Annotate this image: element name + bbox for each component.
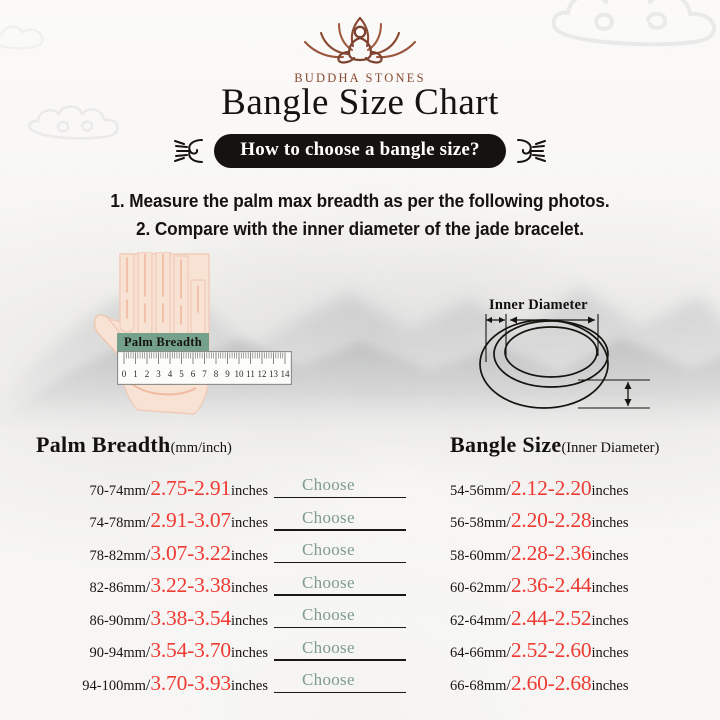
row-measurement: 70-74mm/2.75-2.91inches <box>0 476 270 501</box>
row-measurement: 56-58mm/2.20-2.28inches <box>440 508 629 533</box>
range-inch: 2.12-2.20 <box>511 476 592 500</box>
bangle-size-table: 54-56mm/2.12-2.20inches56-58mm/2.20-2.28… <box>440 472 720 700</box>
table-row: 90-94mm/3.54-3.70inchesChoose <box>0 635 440 668</box>
svg-text:3: 3 <box>156 369 161 379</box>
range-mm: 86-90mm <box>89 613 145 629</box>
svg-text:13: 13 <box>269 369 279 379</box>
range-inch: 3.22-3.38 <box>150 573 231 597</box>
unit-label: inches <box>231 548 268 564</box>
row-measurement: 94-100mm/3.70-3.93inches <box>0 671 270 696</box>
range-mm: 78-82mm <box>89 548 145 564</box>
unit-label: inches <box>591 483 628 499</box>
range-inch: 3.70-3.93 <box>150 671 231 695</box>
how-to-banner: How to choose a bangle size? <box>214 134 505 168</box>
brand-logo: BUDDHA STONES <box>0 8 720 86</box>
range-mm: 60-62mm <box>450 580 506 596</box>
range-mm: 82-86mm <box>89 580 145 596</box>
range-inch: 3.38-3.54 <box>150 606 231 630</box>
unit-label: inches <box>231 515 268 531</box>
svg-text:2: 2 <box>145 369 150 379</box>
flourish-ornament-icon <box>515 134 549 168</box>
row-measurement: 54-56mm/2.12-2.20inches <box>440 476 629 501</box>
size-chart-page: BUDDHA STONES Bangle Size Chart How to c… <box>0 0 720 720</box>
svg-text:8: 8 <box>214 369 219 379</box>
palm-breadth-header-sub: (mm/inch) <box>171 440 232 456</box>
unit-label: inches <box>591 515 628 531</box>
unit-label: inches <box>591 548 628 564</box>
flourish-ornament-icon <box>171 134 205 168</box>
table-row: 86-90mm/3.38-3.54inchesChoose <box>0 602 440 635</box>
range-mm: 70-74mm <box>89 483 145 499</box>
choose-field[interactable]: Choose <box>274 538 406 568</box>
range-inch: 2.91-3.07 <box>150 508 231 532</box>
table-row: 62-64mm/2.44-2.52inches <box>440 602 720 635</box>
unit-label: inches <box>231 678 268 694</box>
svg-text:0: 0 <box>122 369 127 379</box>
unit-label: inches <box>591 678 628 694</box>
choose-field[interactable]: Choose <box>274 473 406 503</box>
svg-text:12: 12 <box>258 369 267 379</box>
range-inch: 2.44-2.52 <box>511 606 592 630</box>
unit-label: inches <box>231 645 268 661</box>
choose-underline <box>274 529 406 531</box>
choose-field[interactable]: Choose <box>274 603 406 633</box>
table-row: 78-82mm/3.07-3.22inchesChoose <box>0 537 440 570</box>
svg-text:1: 1 <box>133 369 138 379</box>
range-inch: 2.75-2.91 <box>150 476 231 500</box>
palm-breadth-label: Palm Breadth <box>117 333 209 353</box>
lotus-meditation-icon <box>295 8 425 70</box>
bangle-size-header-sub: (Inner Diameter) <box>561 440 659 456</box>
choose-label: Choose <box>302 638 355 658</box>
table-row: 60-62mm/2.36-2.44inches <box>440 570 720 603</box>
choose-label: Choose <box>302 605 355 625</box>
bangle-size-column-header: Bangle Size(Inner Diameter) <box>450 432 659 458</box>
range-mm: 54-56mm <box>450 483 506 499</box>
row-measurement: 60-62mm/2.36-2.44inches <box>440 573 629 598</box>
row-measurement: 78-82mm/3.07-3.22inches <box>0 541 270 566</box>
svg-text:10: 10 <box>235 369 245 379</box>
choose-label: Choose <box>302 670 355 690</box>
range-inch: 2.28-2.36 <box>511 541 592 565</box>
palm-breadth-header-main: Palm Breadth <box>36 432 171 457</box>
range-mm: 62-64mm <box>450 613 506 629</box>
choose-underline <box>274 692 406 694</box>
svg-text:4: 4 <box>168 369 173 379</box>
svg-text:7: 7 <box>202 369 207 379</box>
range-mm: 90-94mm <box>89 645 145 661</box>
banner-row: How to choose a bangle size? <box>0 134 720 168</box>
unit-label: inches <box>231 580 268 596</box>
range-inch: 3.07-3.22 <box>150 541 231 565</box>
range-mm: 66-68mm <box>450 678 506 694</box>
instruction-line-1: 1. Measure the palm max breadth as per t… <box>25 190 695 212</box>
unit-label: inches <box>591 580 628 596</box>
row-measurement: 90-94mm/3.54-3.70inches <box>0 638 270 663</box>
choose-label: Choose <box>302 475 355 495</box>
bangle-size-header-main: Bangle Size <box>450 432 561 457</box>
range-inch: 2.36-2.44 <box>511 573 592 597</box>
choose-underline <box>274 659 406 661</box>
page-title: Bangle Size Chart <box>0 81 720 124</box>
range-mm: 64-66mm <box>450 645 506 661</box>
svg-text:5: 5 <box>179 369 184 379</box>
range-inch: 2.60-2.68 <box>511 671 592 695</box>
bangle-ring-icon <box>458 296 658 418</box>
palm-breadth-table: 70-74mm/2.75-2.91inchesChoose74-78mm/2.9… <box>0 472 440 700</box>
table-row: 74-78mm/2.91-3.07inchesChoose <box>0 505 440 538</box>
svg-text:6: 6 <box>191 369 196 379</box>
choose-field[interactable]: Choose <box>274 668 406 698</box>
row-measurement: 66-68mm/2.60-2.68inches <box>440 671 629 696</box>
row-measurement: 58-60mm/2.28-2.36inches <box>440 541 629 566</box>
svg-text:11: 11 <box>246 369 255 379</box>
range-inch: 2.52-2.60 <box>511 638 592 662</box>
unit-label: inches <box>231 613 268 629</box>
choose-underline <box>274 594 406 596</box>
choose-field[interactable]: Choose <box>274 571 406 601</box>
palm-breadth-column-header: Palm Breadth(mm/inch) <box>36 432 232 458</box>
choose-field[interactable]: Choose <box>274 636 406 666</box>
svg-text:14: 14 <box>281 369 291 379</box>
svg-text:9: 9 <box>225 369 230 379</box>
unit-label: inches <box>231 483 268 499</box>
range-inch: 2.20-2.28 <box>511 508 592 532</box>
instruction-line-2: 2. Compare with the inner diameter of th… <box>25 218 695 240</box>
bangle-illustration <box>458 296 658 418</box>
choose-label: Choose <box>302 573 355 593</box>
range-mm: 74-78mm <box>89 515 145 531</box>
table-row: 94-100mm/3.70-3.93inchesChoose <box>0 667 440 700</box>
table-row: 58-60mm/2.28-2.36inches <box>440 537 720 570</box>
table-row: 56-58mm/2.20-2.28inches <box>440 505 720 538</box>
range-mm: 56-58mm <box>450 515 506 531</box>
row-measurement: 64-66mm/2.52-2.60inches <box>440 638 629 663</box>
range-mm: 94-100mm <box>82 678 146 694</box>
row-measurement: 82-86mm/3.22-3.38inches <box>0 573 270 598</box>
choose-underline <box>274 562 406 564</box>
ruler-icon: 01234567891011121314 <box>117 351 292 385</box>
choose-underline <box>274 627 406 629</box>
table-row: 66-68mm/2.60-2.68inches <box>440 667 720 700</box>
row-measurement: 74-78mm/2.91-3.07inches <box>0 508 270 533</box>
choose-label: Choose <box>302 508 355 528</box>
table-row: 54-56mm/2.12-2.20inches <box>440 472 720 505</box>
row-measurement: 62-64mm/2.44-2.52inches <box>440 606 629 631</box>
choose-field[interactable]: Choose <box>274 506 406 536</box>
unit-label: inches <box>591 645 628 661</box>
table-row: 70-74mm/2.75-2.91inchesChoose <box>0 472 440 505</box>
row-measurement: 86-90mm/3.38-3.54inches <box>0 606 270 631</box>
table-row: 64-66mm/2.52-2.60inches <box>440 635 720 668</box>
unit-label: inches <box>591 613 628 629</box>
range-inch: 3.54-3.70 <box>150 638 231 662</box>
choose-underline <box>274 497 406 499</box>
choose-label: Choose <box>302 540 355 560</box>
range-mm: 58-60mm <box>450 548 506 564</box>
table-row: 82-86mm/3.22-3.38inchesChoose <box>0 570 440 603</box>
